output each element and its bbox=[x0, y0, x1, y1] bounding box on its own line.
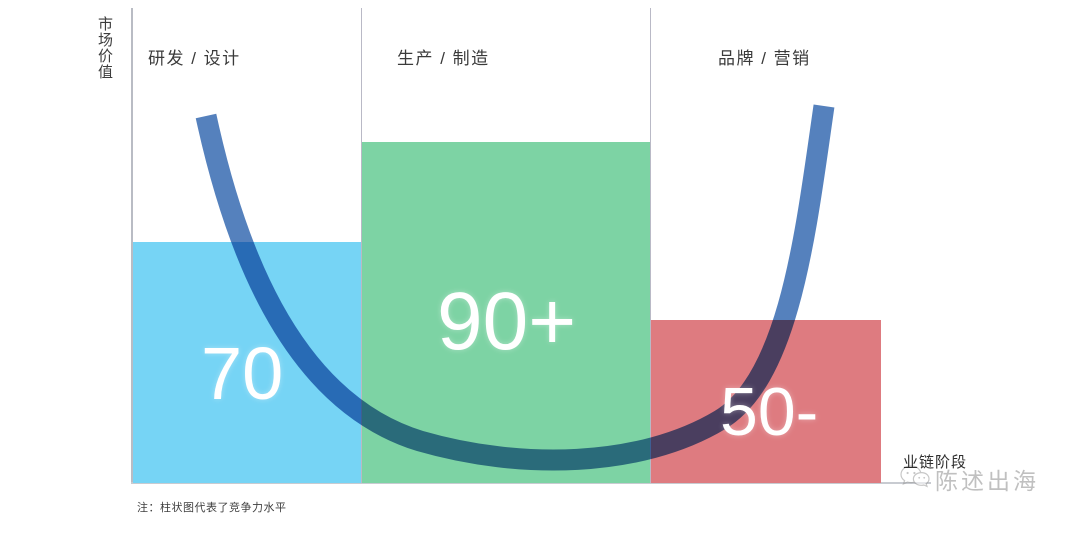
bar-value-brand: 50- bbox=[720, 378, 818, 446]
chart-footnote: 注：柱状图代表了竞争力水平 bbox=[137, 499, 287, 515]
y-axis-label: 市场价值 bbox=[88, 16, 114, 80]
section-title-manufacturing: 生产 / 制造 bbox=[397, 44, 490, 69]
chart-canvas: 市场价值 研发 / 设计 生产 / 制造 品牌 / 营销 70 90+ 50- … bbox=[0, 0, 1080, 535]
bar-value-rd: 70 bbox=[201, 337, 283, 411]
bar-value-manufacturing: 90+ bbox=[437, 281, 576, 363]
x-axis-label: 业链阶段 bbox=[903, 451, 967, 472]
section-title-brand: 品牌 / 营销 bbox=[718, 44, 811, 69]
section-title-rd: 研发 / 设计 bbox=[148, 44, 241, 69]
